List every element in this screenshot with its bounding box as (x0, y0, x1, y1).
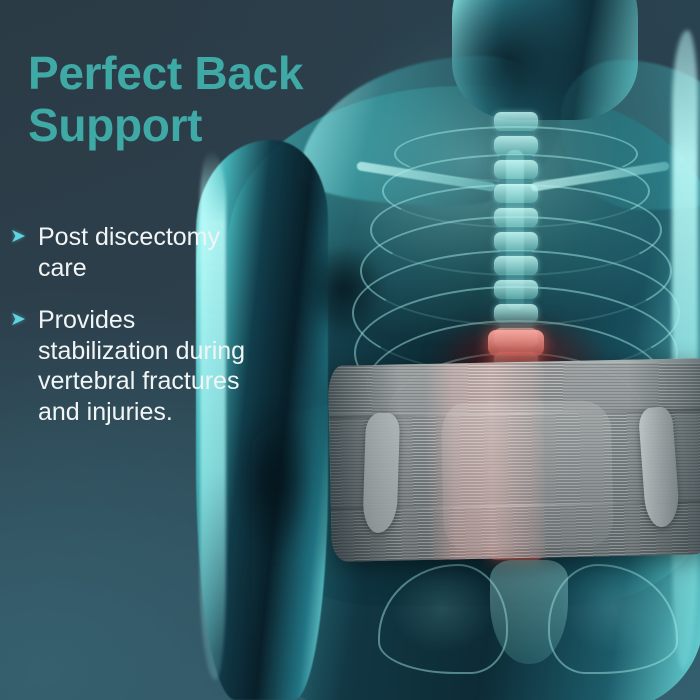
brace-pain-overlay (424, 361, 548, 559)
title-line-1: Perfect Back (28, 48, 358, 100)
list-item: ➤ Post discectomy care (10, 222, 260, 283)
brace-right-shadow (628, 358, 700, 556)
list-item-label: Provides stabilization during vertebral … (38, 305, 260, 427)
lumbar-back-brace (328, 358, 700, 562)
left-ilium (378, 564, 508, 674)
brace-left-shadow (328, 365, 402, 562)
list-item: ➤ Provides stabilization during vertebra… (10, 305, 260, 427)
list-item-label: Post discectomy care (38, 222, 260, 283)
pelvis (378, 560, 678, 700)
promo-slide: Perfect Back Support ➤ Post discectomy c… (0, 0, 700, 700)
title-line-2: Support (28, 100, 358, 152)
page-title: Perfect Back Support (28, 48, 358, 152)
arrow-bullet-icon: ➤ (10, 310, 32, 329)
feature-list: ➤ Post discectomy care ➤ Provides stabil… (10, 222, 260, 449)
arrow-bullet-icon: ➤ (10, 227, 32, 246)
